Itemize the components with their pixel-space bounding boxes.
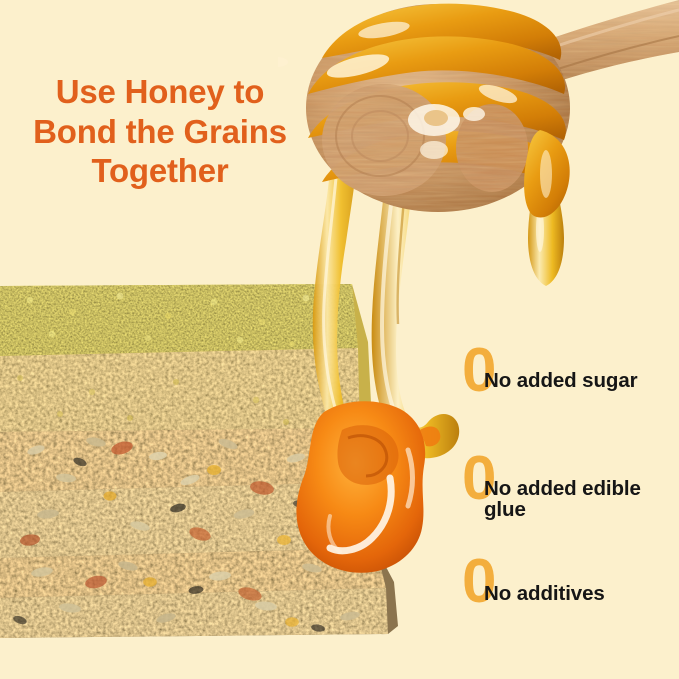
list-item: 0 No additives — [462, 551, 679, 631]
page-title: Use Honey to Bond the Grains Together — [0, 72, 320, 191]
bullet-label-no-additives: No additives — [462, 551, 679, 604]
headline-line-3: Together — [0, 151, 320, 191]
wooden-honey-dipper — [278, 0, 679, 300]
product-feature-graphic: Use Honey to Bond the Grains Together 0 … — [0, 0, 679, 679]
list-item: 0 No added edible glue — [462, 448, 679, 551]
feature-bullet-list: 0 No added sugar 0 No added edible glue … — [462, 336, 679, 631]
bullet-label-no-added-sugar: No added sugar — [462, 336, 679, 391]
headline-line-1: Use Honey to — [0, 72, 320, 112]
headline-line-2: Bond the Grains — [0, 112, 320, 152]
honey-pool-blob — [286, 396, 442, 586]
dipper-head — [278, 4, 570, 218]
bullet-label-no-added-edible-glue: No added edible glue — [462, 448, 679, 521]
list-item: 0 No added sugar — [462, 336, 679, 448]
